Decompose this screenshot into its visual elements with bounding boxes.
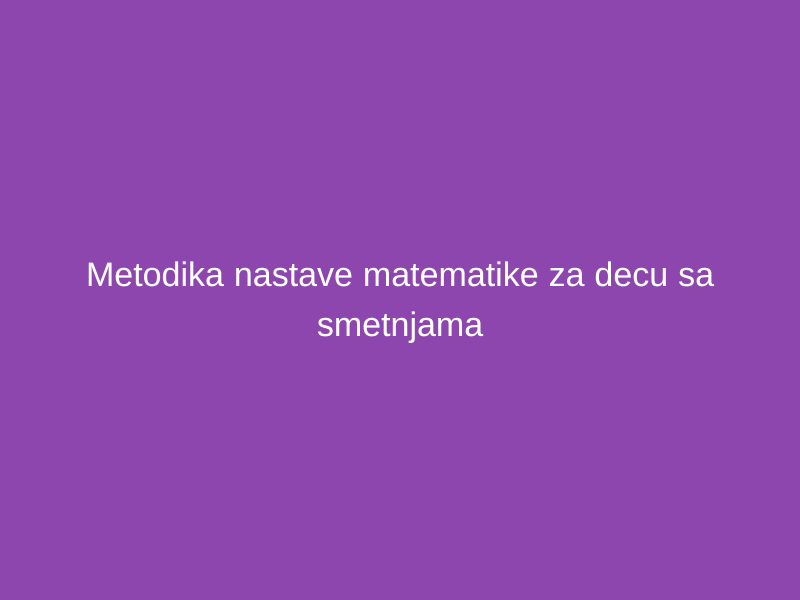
page-title: Metodika nastave matematike za decu sa s… <box>80 250 720 350</box>
title-card: Metodika nastave matematike za decu sa s… <box>0 0 800 600</box>
